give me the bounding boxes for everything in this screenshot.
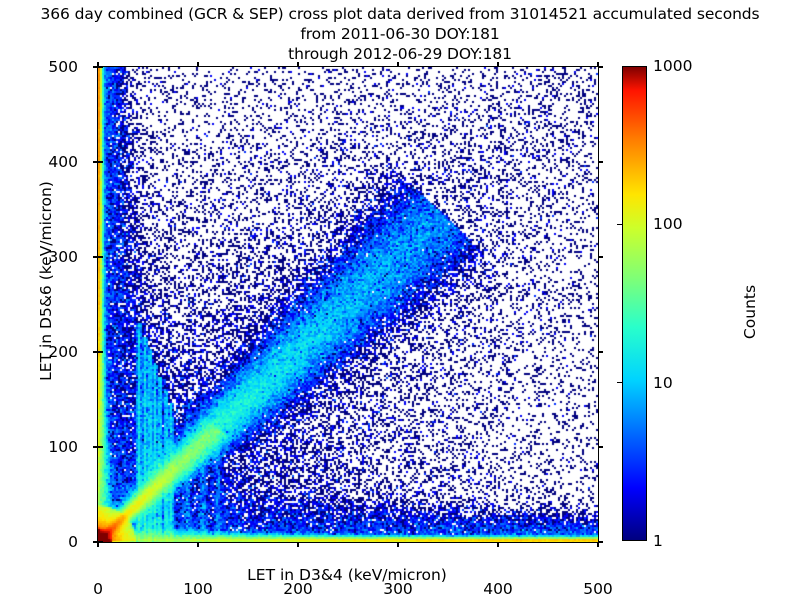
y-tick-mark: [598, 446, 603, 447]
y-tick-mark: [598, 161, 603, 162]
y-tick-mark: [98, 541, 103, 542]
colorbar-title: Counts: [741, 162, 759, 462]
title-line-1: 366 day combined (GCR & SEP) cross plot …: [0, 4, 800, 24]
x-tick-mark: [197, 62, 198, 67]
density-scatter-plot: [98, 67, 598, 542]
colorbar-tick-label: 1: [653, 532, 663, 550]
plot-title: 366 day combined (GCR & SEP) cross plot …: [0, 4, 800, 64]
y-tick-mark: [98, 351, 103, 352]
colorbar: 1000100101: [622, 66, 647, 541]
y-tick-mark: [598, 541, 603, 542]
plot-axes: 01002003004005000100200300400500: [97, 66, 599, 543]
y-tick-mark: [598, 256, 603, 257]
x-tick-mark: [597, 62, 598, 67]
title-line-2: from 2011-06-30 DOY:181: [0, 24, 800, 44]
x-axis-title: LET in D3&4 (keV/micron): [97, 566, 597, 584]
y-tick-mark: [98, 161, 103, 162]
y-tick-mark: [598, 351, 603, 352]
y-axis-title: LET in D5&6 (keV/micron): [37, 81, 55, 481]
colorbar-tick-label: 10: [653, 374, 673, 392]
x-tick-mark: [197, 542, 198, 547]
y-tick-mark: [598, 66, 603, 67]
y-tick-label: 0: [68, 533, 78, 551]
y-tick-mark: [98, 446, 103, 447]
x-tick-mark: [497, 62, 498, 67]
x-tick-mark: [597, 542, 598, 547]
x-tick-mark: [297, 542, 298, 547]
colorbar-tick-mark: [617, 224, 622, 225]
x-tick-mark: [397, 542, 398, 547]
x-tick-mark: [397, 62, 398, 67]
y-tick-mark: [98, 256, 103, 257]
colorbar-tick-label: 100: [653, 215, 683, 233]
figure-canvas: 366 day combined (GCR & SEP) cross plot …: [0, 0, 800, 600]
x-tick-mark: [97, 542, 98, 547]
x-tick-mark: [297, 62, 298, 67]
x-tick-mark: [97, 62, 98, 67]
y-tick-label: 500: [48, 58, 78, 76]
x-tick-mark: [497, 542, 498, 547]
y-tick-mark: [98, 66, 103, 67]
colorbar-tick-label: 1000: [653, 57, 692, 75]
colorbar-tick-mark: [617, 382, 622, 383]
colorbar-gradient: [622, 66, 647, 541]
